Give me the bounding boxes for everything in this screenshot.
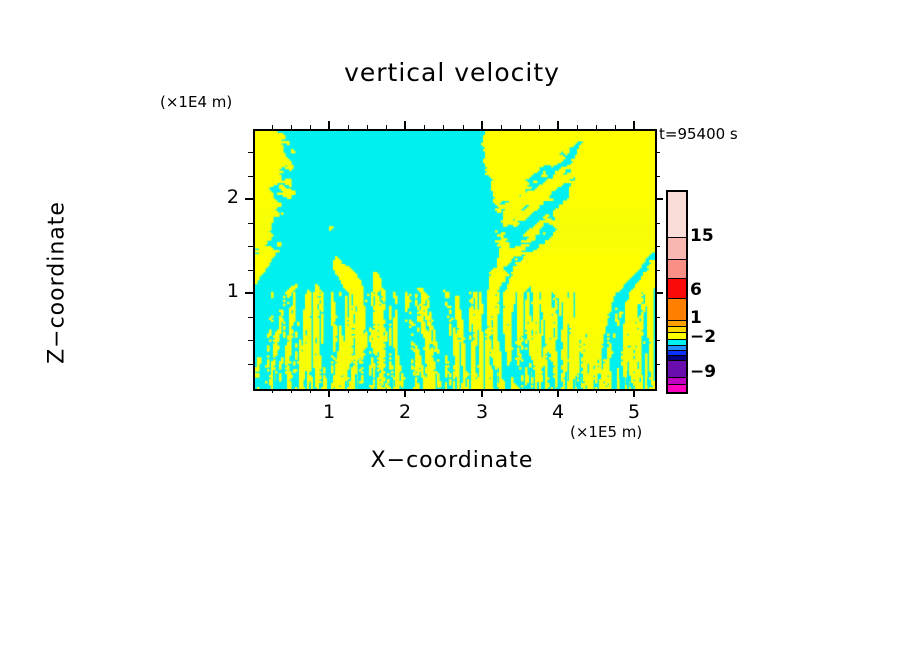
x-tick-minor [577, 389, 578, 393]
x-tick-minor [596, 389, 597, 393]
x-tick-minor-top [463, 125, 464, 129]
x-tick-minor-top [501, 125, 502, 129]
x-tick-minor-top [539, 125, 540, 129]
y-tick-major [245, 292, 253, 294]
x-tick-minor-top [596, 125, 597, 129]
colorbar-band [668, 279, 686, 299]
y-tick-minor-right [655, 270, 660, 271]
x-tick-label: 4 [538, 401, 578, 423]
x-tick-major-top [404, 121, 406, 129]
x-tick-major-top [633, 121, 635, 129]
y-tick-major-right [655, 198, 663, 200]
time-annotation: t=95400 s [659, 125, 738, 143]
colorbar-band [668, 192, 686, 238]
y-tick-minor [248, 270, 253, 271]
x-tick-minor-top [291, 125, 292, 129]
x-tick-minor-top [443, 125, 444, 129]
x-axis-units: (×1E5 m) [570, 423, 642, 441]
colorbar-band [668, 260, 686, 279]
x-tick-minor [310, 389, 311, 393]
x-tick-minor [463, 389, 464, 393]
y-tick-major [245, 198, 253, 200]
x-tick-minor [615, 389, 616, 393]
x-tick-minor [348, 389, 349, 393]
y-tick-minor-right [655, 364, 660, 365]
x-tick-minor [539, 389, 540, 393]
x-tick-major-top [557, 121, 559, 129]
y-tick-label: 2 [213, 186, 239, 208]
y-tick-minor-right [655, 152, 660, 153]
colorbar [666, 190, 688, 394]
colorbar-tick-label: 6 [690, 280, 702, 300]
colorbar-band [668, 361, 686, 378]
x-tick-minor [367, 389, 368, 393]
x-tick-minor-top [272, 125, 273, 129]
colorbar-tick-label: −9 [690, 362, 716, 382]
colorbar-band [668, 238, 686, 260]
x-tick-major [481, 389, 483, 397]
colorbar-tick-label: −2 [690, 327, 716, 347]
x-tick-major [557, 389, 559, 397]
y-tick-major-right [655, 292, 663, 294]
colorbar-band [668, 385, 686, 392]
y-tick-minor [248, 340, 253, 341]
x-tick-label: 2 [385, 401, 425, 423]
x-tick-minor [443, 389, 444, 393]
plot-area [253, 129, 657, 391]
x-tick-major-top [481, 121, 483, 129]
y-tick-minor-right [655, 246, 660, 247]
x-tick-major [633, 389, 635, 397]
x-tick-minor-top [348, 125, 349, 129]
x-tick-label: 5 [614, 401, 654, 423]
x-tick-minor-top [577, 125, 578, 129]
x-tick-minor [424, 389, 425, 393]
x-tick-label: 3 [462, 401, 502, 423]
x-tick-minor [520, 389, 521, 393]
figure-canvas: vertical velocity (×1E4 m) t=95400 s Z−c… [0, 0, 904, 654]
y-tick-label: 1 [213, 280, 239, 302]
y-axis-title: Z−coordinate [45, 183, 70, 383]
y-tick-minor [248, 246, 253, 247]
y-tick-minor [248, 176, 253, 177]
y-tick-minor [248, 317, 253, 318]
x-tick-minor [291, 389, 292, 393]
x-tick-minor [272, 389, 273, 393]
x-tick-minor-top [424, 125, 425, 129]
x-axis-title: X−coordinate [0, 448, 904, 473]
y-tick-minor [248, 152, 253, 153]
x-tick-major [328, 389, 330, 397]
y-tick-minor [248, 364, 253, 365]
x-tick-minor [386, 389, 387, 393]
y-tick-minor-right [655, 340, 660, 341]
y-axis-units: (×1E4 m) [160, 93, 232, 111]
colorbar-band [668, 299, 686, 321]
x-tick-minor-top [615, 125, 616, 129]
colorbar-tick-label: 15 [690, 226, 714, 246]
x-tick-minor-top [520, 125, 521, 129]
y-tick-minor-right [655, 317, 660, 318]
chart-title: vertical velocity [0, 58, 904, 87]
x-tick-minor-top [386, 125, 387, 129]
x-tick-minor [501, 389, 502, 393]
x-tick-major [404, 389, 406, 397]
y-tick-minor-right [655, 176, 660, 177]
x-tick-minor-top [310, 125, 311, 129]
y-tick-minor-right [655, 223, 660, 224]
x-tick-minor-top [367, 125, 368, 129]
vertical-velocity-field [255, 131, 655, 389]
colorbar-tick-label: 1 [690, 308, 702, 328]
x-tick-major-top [328, 121, 330, 129]
y-tick-minor [248, 223, 253, 224]
x-tick-label: 1 [309, 401, 349, 423]
